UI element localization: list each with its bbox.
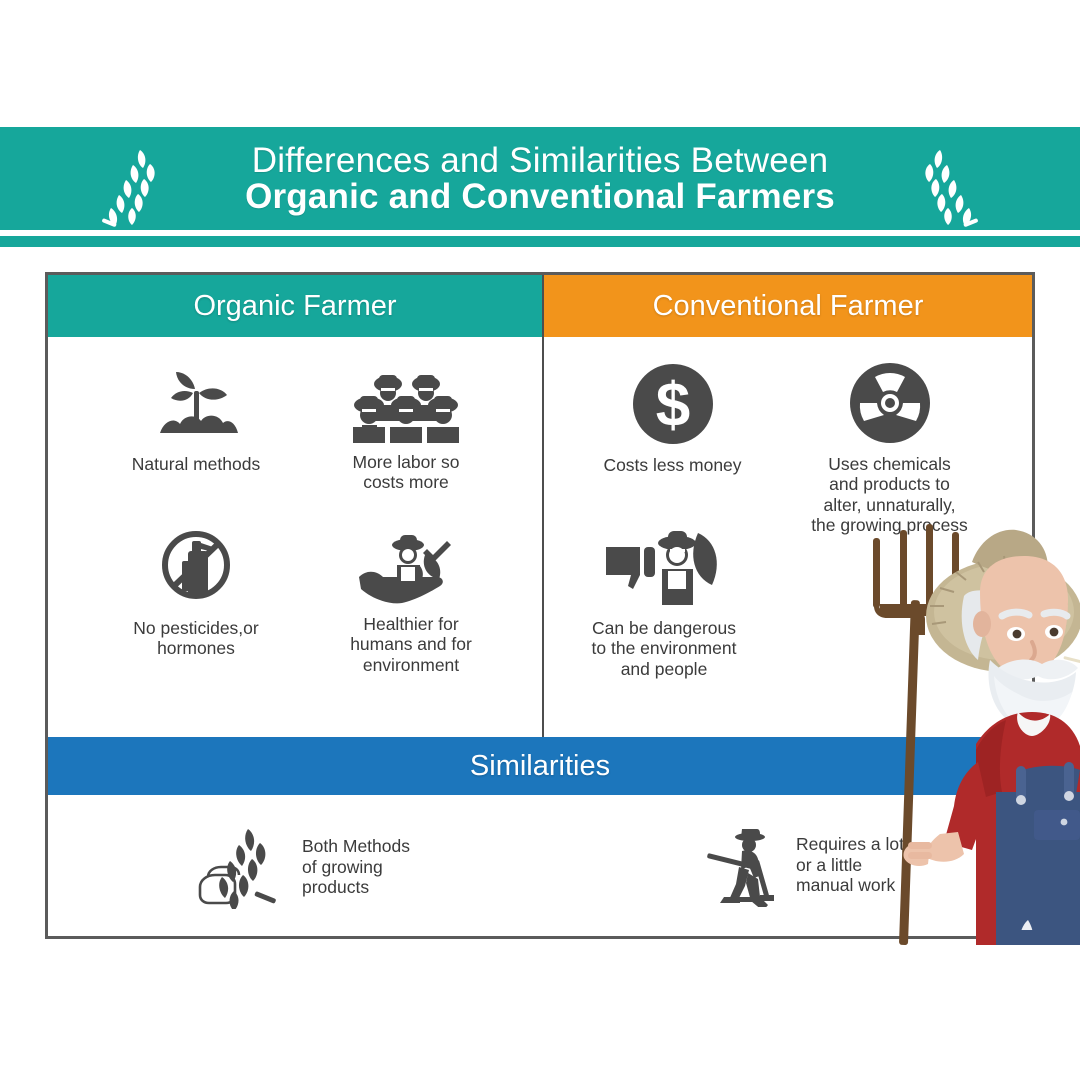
elderly-farmer-with-pitchfork <box>868 500 1080 945</box>
organic-item-label: No pesticides,or hormones <box>96 618 296 659</box>
farmer-arm <box>903 762 988 866</box>
hand-holding-plant-icon <box>353 531 469 605</box>
organic-item-label: Healthier for humans and for environment <box>306 614 516 675</box>
organic-item-healthier: Healthier for humans and for environment <box>306 531 516 675</box>
banner-title-block: Differences and Similarities Between Org… <box>245 143 835 214</box>
no-pesticides-icon <box>156 527 236 609</box>
similarity-item-label: Both Methods of growing products <box>302 836 410 897</box>
dollar-coin-icon: $ <box>631 362 715 446</box>
organic-item-label: Natural methods <box>96 454 296 474</box>
page-banner: Differences and Similarities Between Org… <box>0 127 1080 230</box>
organic-column: Natural methods <box>48 337 542 737</box>
column-header-organic: Organic Farmer <box>48 275 542 337</box>
column-header-conventional: Conventional Farmer <box>542 275 1032 337</box>
organic-item-natural-methods: Natural methods <box>96 367 296 474</box>
banner-title-line-2: Organic and Conventional Farmers <box>245 179 835 215</box>
table-header-row: Organic Farmer Conventional Farmer <box>48 275 1032 337</box>
conventional-item-dangerous: Can be dangerous to the environment and … <box>554 527 774 679</box>
seedling-icon <box>154 367 238 445</box>
hazard-chemical-icon <box>848 361 932 445</box>
organic-item-label: More labor so costs more <box>306 452 506 493</box>
conventional-item-label: Costs less money <box>570 455 775 475</box>
conventional-item-costs-less: $ Costs less money <box>570 362 775 475</box>
banner-bottom-stripe <box>0 236 1080 247</box>
workers-group-icon <box>350 369 462 443</box>
wheat-icon <box>100 144 178 230</box>
banner-title-line-1: Differences and Similarities Between <box>245 143 835 179</box>
similarity-item-both-methods: Both Methods of growing products <box>198 825 410 909</box>
farmer-hoe-icon <box>706 823 784 907</box>
organic-item-no-pesticides: No pesticides,or hormones <box>96 527 296 659</box>
svg-text:$: $ <box>655 371 689 440</box>
conventional-item-label: Can be dangerous to the environment and … <box>554 618 774 679</box>
wheat-icon <box>902 144 980 230</box>
thumbs-down-farmer-icon <box>602 527 727 609</box>
organic-item-more-labor: More labor so costs more <box>306 369 506 493</box>
wheat-bread-icon <box>198 825 290 909</box>
